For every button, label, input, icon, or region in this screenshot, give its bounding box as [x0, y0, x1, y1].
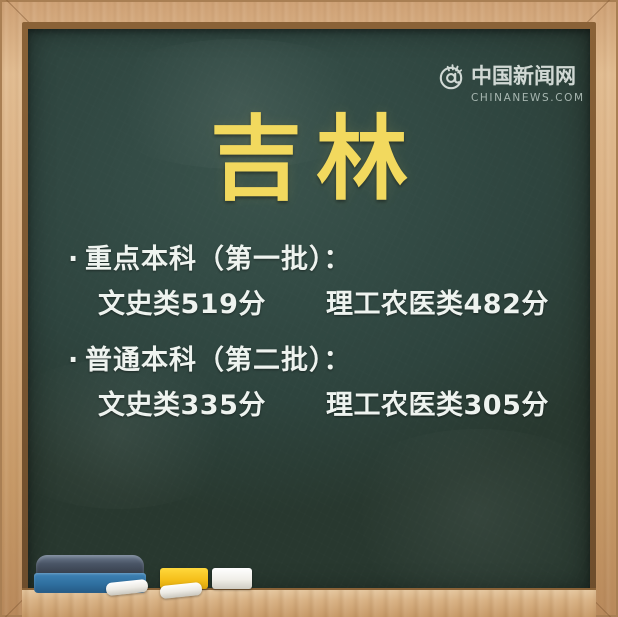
watermark-row: 中国新闻网: [438, 62, 584, 90]
white-chalk-icon: [212, 568, 252, 589]
score-science: 理工农医类482分: [326, 285, 549, 326]
score-liberal-arts: 文史类335分: [98, 386, 326, 427]
section-heading: ·重点本科（第一批）：: [68, 240, 588, 281]
watermark-brand-url: CHINANEWS.COM: [471, 93, 584, 104]
section-title: 重点本科（第一批）：: [85, 244, 352, 275]
bullet-icon: ·: [68, 240, 85, 281]
score-science: 理工农医类305分: [326, 386, 549, 427]
score-row: 文史类519分 理工农医类482分: [98, 285, 588, 326]
at-circle-icon: [438, 62, 466, 90]
page-title: 吉林: [0, 112, 618, 209]
bullet-icon: ·: [68, 341, 85, 382]
score-list: ·重点本科（第一批）： 文史类519分 理工农医类482分 ·普通本科（第二批）…: [68, 240, 588, 436]
score-liberal-arts: 文史类519分: [98, 285, 326, 326]
chalkboard-infographic: 中国新闻网 CHINANEWS.COM 吉林 ·重点本科（第一批）： 文史类51…: [0, 0, 618, 617]
score-section-batch-2: ·普通本科（第二批）： 文史类335分 理工农医类305分: [68, 341, 588, 426]
chinanews-watermark: 中国新闻网 CHINANEWS.COM: [438, 62, 584, 112]
section-title: 普通本科（第二批）：: [85, 345, 352, 376]
watermark-brand-cn: 中国新闻网: [471, 66, 576, 87]
section-heading: ·普通本科（第二批）：: [68, 341, 588, 382]
score-section-batch-1: ·重点本科（第一批）： 文史类519分 理工农医类482分: [68, 240, 588, 325]
score-row: 文史类335分 理工农医类305分: [98, 386, 588, 427]
